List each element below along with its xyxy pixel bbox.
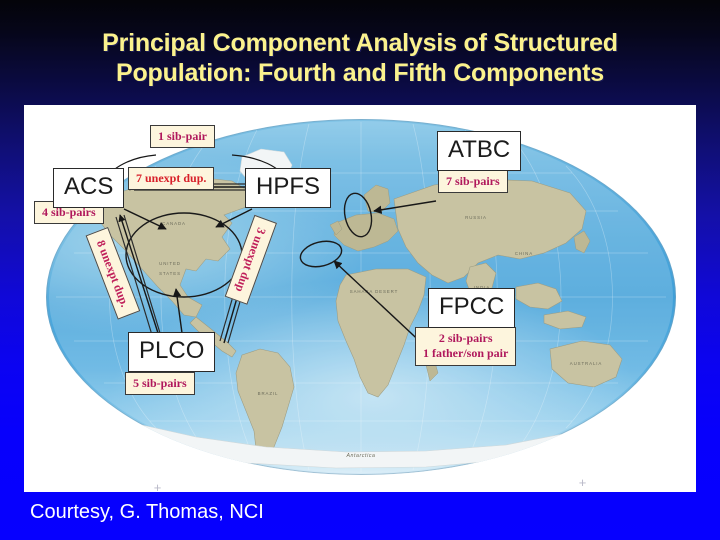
registration-cross-icon: + <box>152 482 163 492</box>
page-title: Principal Component Analysis of Structur… <box>0 28 720 88</box>
callout-plco-sibpairs: 5 sib-pairs <box>125 372 195 395</box>
callout-acs-hpfs-dup: 7 unexpt dup. <box>128 167 214 190</box>
map-label: RUSSIA <box>465 215 487 220</box>
map-label: CHINA <box>515 251 533 256</box>
presentation-slide: Principal Component Analysis of Structur… <box>0 0 720 540</box>
map-label: UNITED <box>159 261 181 266</box>
study-box-plco[interactable]: PLCO <box>128 332 215 372</box>
registration-cross-icon: + <box>577 477 588 488</box>
title-line-1: Principal Component Analysis of Structur… <box>0 28 720 58</box>
map-label: BRAZIL <box>258 391 279 396</box>
study-box-fpcc[interactable]: FPCC <box>428 288 515 328</box>
callout-acs-hpfs-sibpair: 1 sib-pair <box>150 125 215 148</box>
map-label: SAHARA DESERT <box>350 289 398 294</box>
map-panel: + + + <box>24 105 696 492</box>
callout-fpcc-sibpairs: 2 sib-pairs 1 father/son pair <box>415 327 516 366</box>
study-box-acs[interactable]: ACS <box>53 168 124 208</box>
map-label: STATES <box>159 271 181 276</box>
map-label: Antarctica <box>345 453 375 459</box>
map-label: AUSTRALIA <box>570 361 603 366</box>
callout-fpcc-line-2: 1 father/son pair <box>423 346 508 361</box>
study-box-atbc[interactable]: ATBC <box>437 131 521 171</box>
map-label: CANADA <box>162 221 186 226</box>
callout-fpcc-line-1: 2 sib-pairs <box>423 331 508 346</box>
study-box-hpfs[interactable]: HPFS <box>245 168 331 208</box>
slide-caption: Courtesy, G. Thomas, NCI <box>30 500 264 524</box>
title-line-2: Population: Fourth and Fifth Components <box>0 58 720 88</box>
callout-atbc-sibpairs: 7 sib-pairs <box>438 170 508 193</box>
